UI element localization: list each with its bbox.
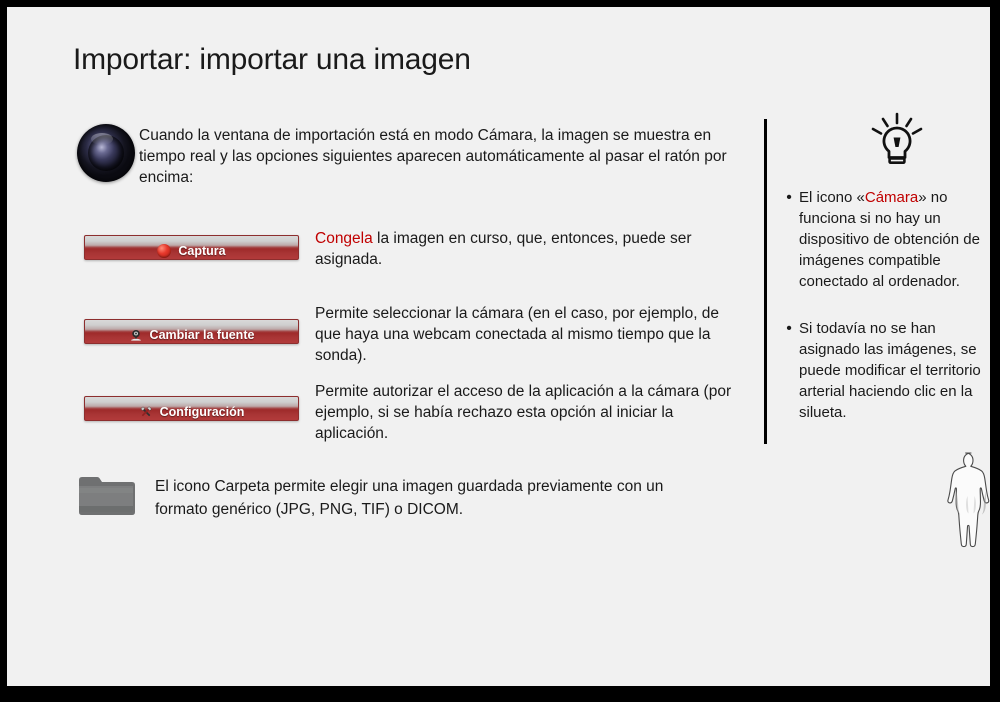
cambiar-fuente-button-label: Cambiar la fuente — [150, 328, 255, 342]
captura-description: Congela la imagen en curso, que, entonce… — [315, 228, 745, 270]
configuracion-button-label: Configuración — [160, 405, 245, 419]
tip-item: • Si todavía no se han asignado las imág… — [779, 318, 994, 423]
body-silhouette-icon[interactable] — [943, 450, 999, 550]
folder-description: El icono Carpeta permite elegir una imag… — [155, 475, 715, 521]
tip-prefix: El icono « — [799, 189, 865, 206]
configuracion-description-rest: Permite autorizar el acceso de la aplica… — [315, 383, 731, 442]
tip-accent: Cámara — [865, 189, 918, 206]
tip-text: Si todavía no se han asignado las imágen… — [799, 318, 994, 423]
camera-lens-icon — [77, 124, 135, 182]
vertical-divider — [764, 119, 767, 444]
cambiar-fuente-description-rest: Permite seleccionar la cámara (en el cas… — [315, 305, 719, 364]
configuracion-button[interactable]: Configuración — [84, 396, 299, 421]
slide-frame: Importar: importar una imagen Cuando la … — [0, 0, 1000, 702]
captura-description-accent: Congela — [315, 230, 373, 247]
lightbulb-icon — [868, 112, 926, 174]
bullet-glyph: • — [779, 187, 799, 208]
bullet-glyph: • — [779, 318, 799, 339]
cambiar-fuente-description: Permite seleccionar la cámara (en el cas… — [315, 303, 745, 366]
configuracion-description: Permite autorizar el acceso de la aplica… — [315, 381, 745, 444]
captura-button[interactable]: Captura — [84, 235, 299, 260]
webcam-icon — [129, 328, 143, 342]
tip-text: El icono «Cámara» no funciona si no hay … — [799, 187, 994, 292]
folder-icon — [77, 472, 135, 516]
intro-paragraph: Cuando la ventana de importación está en… — [139, 125, 739, 188]
tip-item: • El icono «Cámara» no funciona si no ha… — [779, 187, 994, 292]
cambiar-fuente-button[interactable]: Cambiar la fuente — [84, 319, 299, 344]
slide-canvas: Importar: importar una imagen Cuando la … — [7, 7, 990, 686]
page-title: Importar: importar una imagen — [73, 43, 471, 77]
record-dot-icon — [157, 244, 171, 258]
captura-button-label: Captura — [178, 244, 225, 258]
tools-icon — [139, 405, 153, 419]
tips-list: • El icono «Cámara» no funciona si no ha… — [779, 187, 994, 449]
tip-prefix: Si todavía no se han asignado las imágen… — [799, 320, 981, 421]
